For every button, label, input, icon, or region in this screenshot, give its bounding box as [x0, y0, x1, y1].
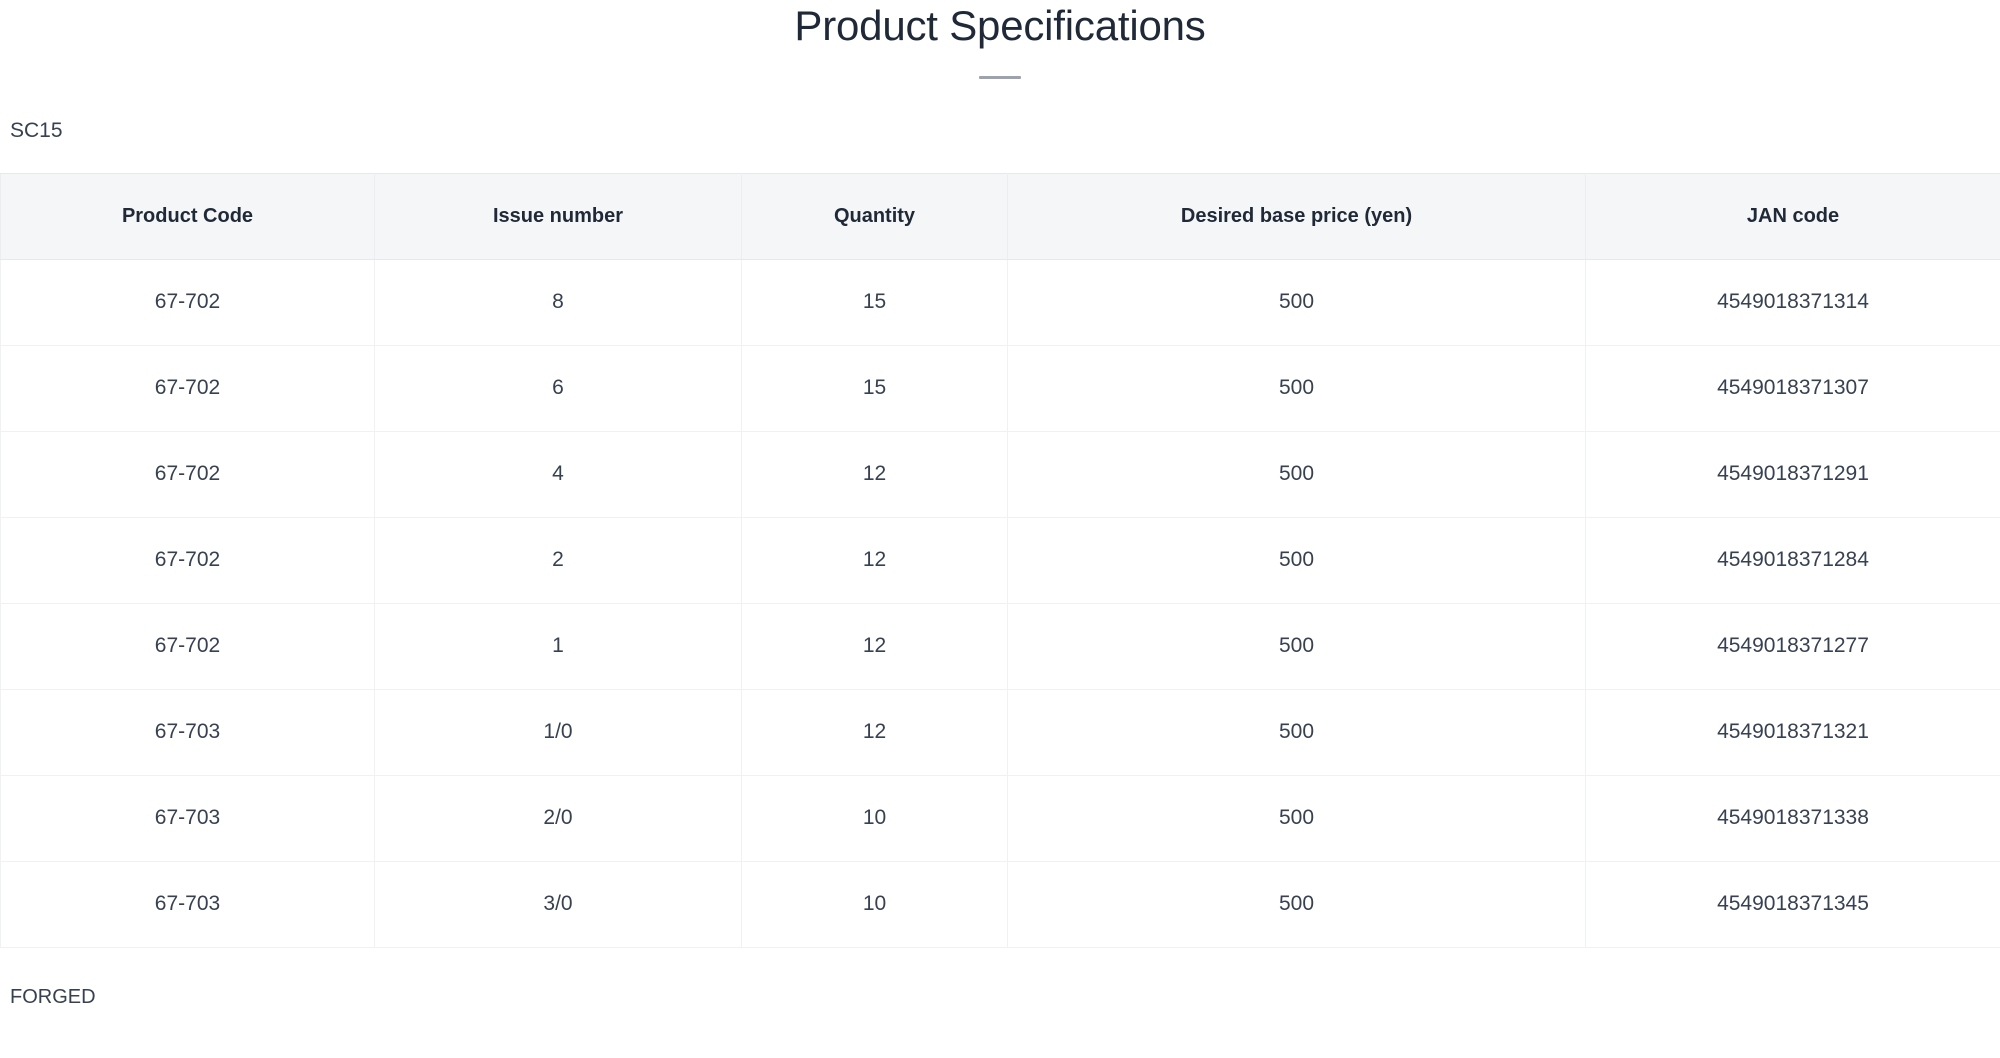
- cell-product-code: 67-703: [1, 689, 375, 775]
- table-row: 67-702 8 15 500 4549018371314: [1, 259, 2000, 345]
- cell-jan-code: 4549018371321: [1586, 689, 2000, 775]
- column-header-issue-number: Issue number: [375, 173, 742, 259]
- table-header: Product Code Issue number Quantity Desir…: [1, 173, 2000, 259]
- cell-quantity: 12: [742, 603, 1008, 689]
- product-specifications-table: Product Code Issue number Quantity Desir…: [0, 173, 2000, 948]
- section-label-sc15: SC15: [0, 117, 2000, 144]
- cell-issue-number: 2/0: [375, 775, 742, 861]
- table-row: 67-703 1/0 12 500 4549018371321: [1, 689, 2000, 775]
- table-row: 67-702 6 15 500 4549018371307: [1, 345, 2000, 431]
- cell-product-code: 67-702: [1, 259, 375, 345]
- footer-label-forged: FORGED: [0, 984, 2000, 1010]
- cell-issue-number: 4: [375, 431, 742, 517]
- cell-jan-code: 4549018371345: [1586, 861, 2000, 947]
- cell-issue-number: 1: [375, 603, 742, 689]
- cell-quantity: 12: [742, 517, 1008, 603]
- cell-product-code: 67-702: [1, 603, 375, 689]
- title-block: Product Specifications: [0, 0, 2000, 79]
- cell-issue-number: 2: [375, 517, 742, 603]
- cell-quantity: 12: [742, 431, 1008, 517]
- cell-jan-code: 4549018371307: [1586, 345, 2000, 431]
- cell-base-price: 500: [1008, 603, 1586, 689]
- cell-product-code: 67-703: [1, 775, 375, 861]
- product-specifications-page: Product Specifications SC15 Product Code…: [0, 0, 2000, 1058]
- cell-issue-number: 8: [375, 259, 742, 345]
- cell-issue-number: 1/0: [375, 689, 742, 775]
- cell-base-price: 500: [1008, 259, 1586, 345]
- cell-quantity: 10: [742, 775, 1008, 861]
- cell-jan-code: 4549018371338: [1586, 775, 2000, 861]
- cell-jan-code: 4549018371314: [1586, 259, 2000, 345]
- column-header-quantity: Quantity: [742, 173, 1008, 259]
- table-header-row: Product Code Issue number Quantity Desir…: [1, 173, 2000, 259]
- cell-product-code: 67-702: [1, 431, 375, 517]
- cell-product-code: 67-703: [1, 861, 375, 947]
- cell-quantity: 15: [742, 259, 1008, 345]
- cell-jan-code: 4549018371291: [1586, 431, 2000, 517]
- cell-product-code: 67-702: [1, 517, 375, 603]
- column-header-product-code: Product Code: [1, 173, 375, 259]
- table-row: 67-702 4 12 500 4549018371291: [1, 431, 2000, 517]
- cell-jan-code: 4549018371284: [1586, 517, 2000, 603]
- table-body: 67-702 8 15 500 4549018371314 67-702 6 1…: [1, 259, 2000, 947]
- cell-jan-code: 4549018371277: [1586, 603, 2000, 689]
- title-divider-rule: [979, 76, 1021, 79]
- page-title: Product Specifications: [0, 2, 2000, 50]
- cell-base-price: 500: [1008, 431, 1586, 517]
- table-row: 67-702 2 12 500 4549018371284: [1, 517, 2000, 603]
- cell-quantity: 15: [742, 345, 1008, 431]
- cell-issue-number: 6: [375, 345, 742, 431]
- table-row: 67-703 3/0 10 500 4549018371345: [1, 861, 2000, 947]
- cell-quantity: 10: [742, 861, 1008, 947]
- column-header-jan-code: JAN code: [1586, 173, 2000, 259]
- cell-quantity: 12: [742, 689, 1008, 775]
- cell-base-price: 500: [1008, 517, 1586, 603]
- table-row: 67-702 1 12 500 4549018371277: [1, 603, 2000, 689]
- cell-base-price: 500: [1008, 861, 1586, 947]
- cell-issue-number: 3/0: [375, 861, 742, 947]
- spec-table-container: Product Code Issue number Quantity Desir…: [0, 173, 2000, 948]
- cell-base-price: 500: [1008, 689, 1586, 775]
- cell-base-price: 500: [1008, 775, 1586, 861]
- column-header-desired-base-price: Desired base price (yen): [1008, 173, 1586, 259]
- table-row: 67-703 2/0 10 500 4549018371338: [1, 775, 2000, 861]
- cell-base-price: 500: [1008, 345, 1586, 431]
- cell-product-code: 67-702: [1, 345, 375, 431]
